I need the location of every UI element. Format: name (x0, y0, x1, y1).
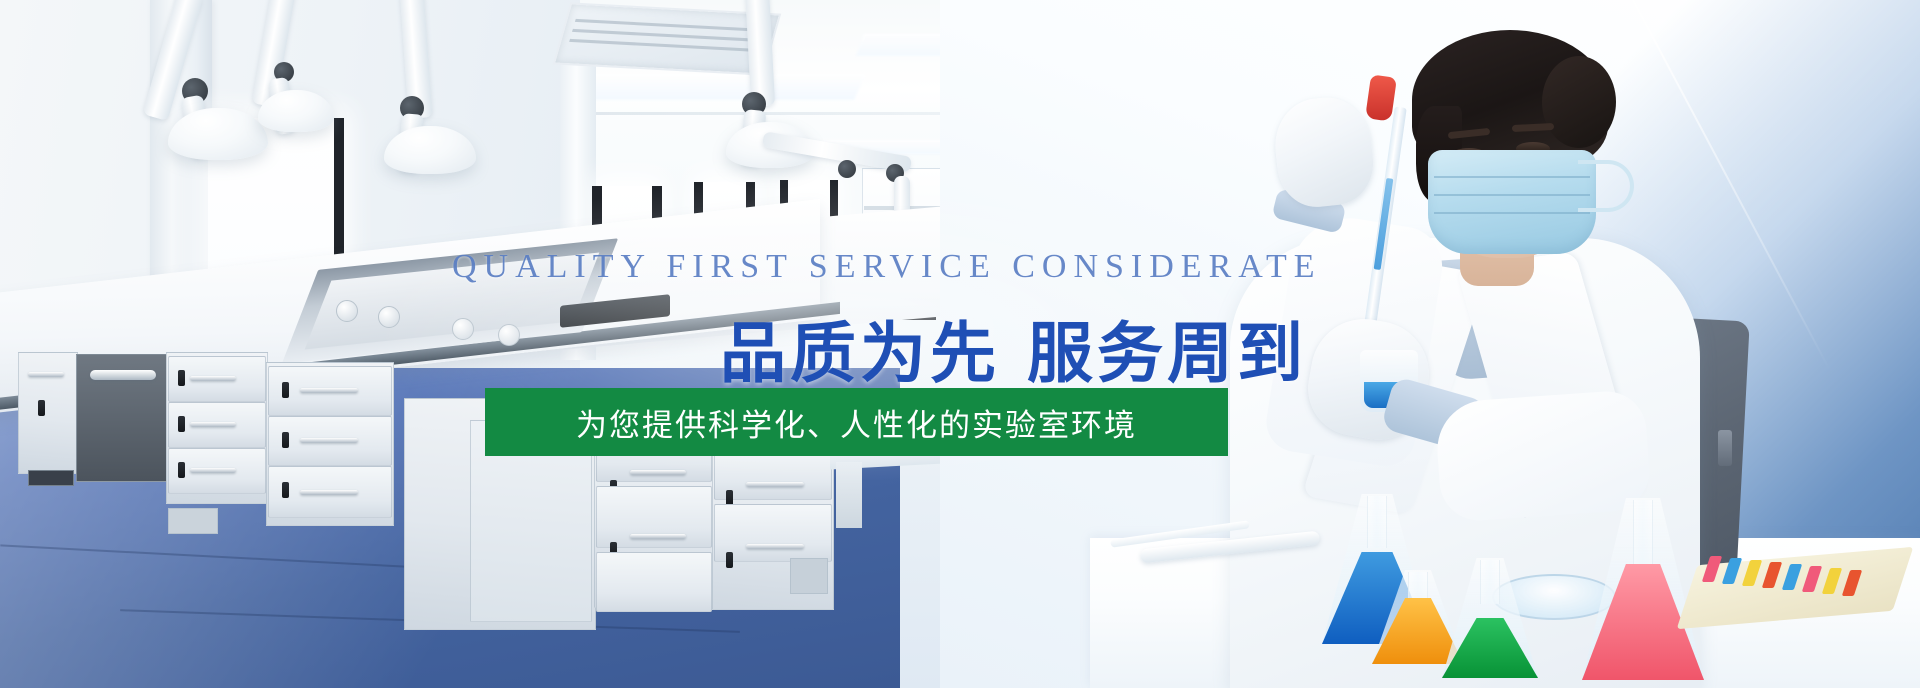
headline-chinese: 品质为先 服务周到 (720, 300, 1307, 396)
lab-hero-banner: QUALITY FIRST SERVICE CONSIDERATE 品质为先 服… (0, 0, 1920, 688)
subline-chinese: 为您提供科学化、人性化的实验室环境 (576, 400, 1137, 445)
english-tagline: QUALITY FIRST SERVICE CONSIDERATE (452, 248, 1322, 286)
text-overlay: QUALITY FIRST SERVICE CONSIDERATE 品质为先 服… (0, 0, 1920, 688)
green-subline-bar: 为您提供科学化、人性化的实验室环境 (485, 388, 1228, 456)
